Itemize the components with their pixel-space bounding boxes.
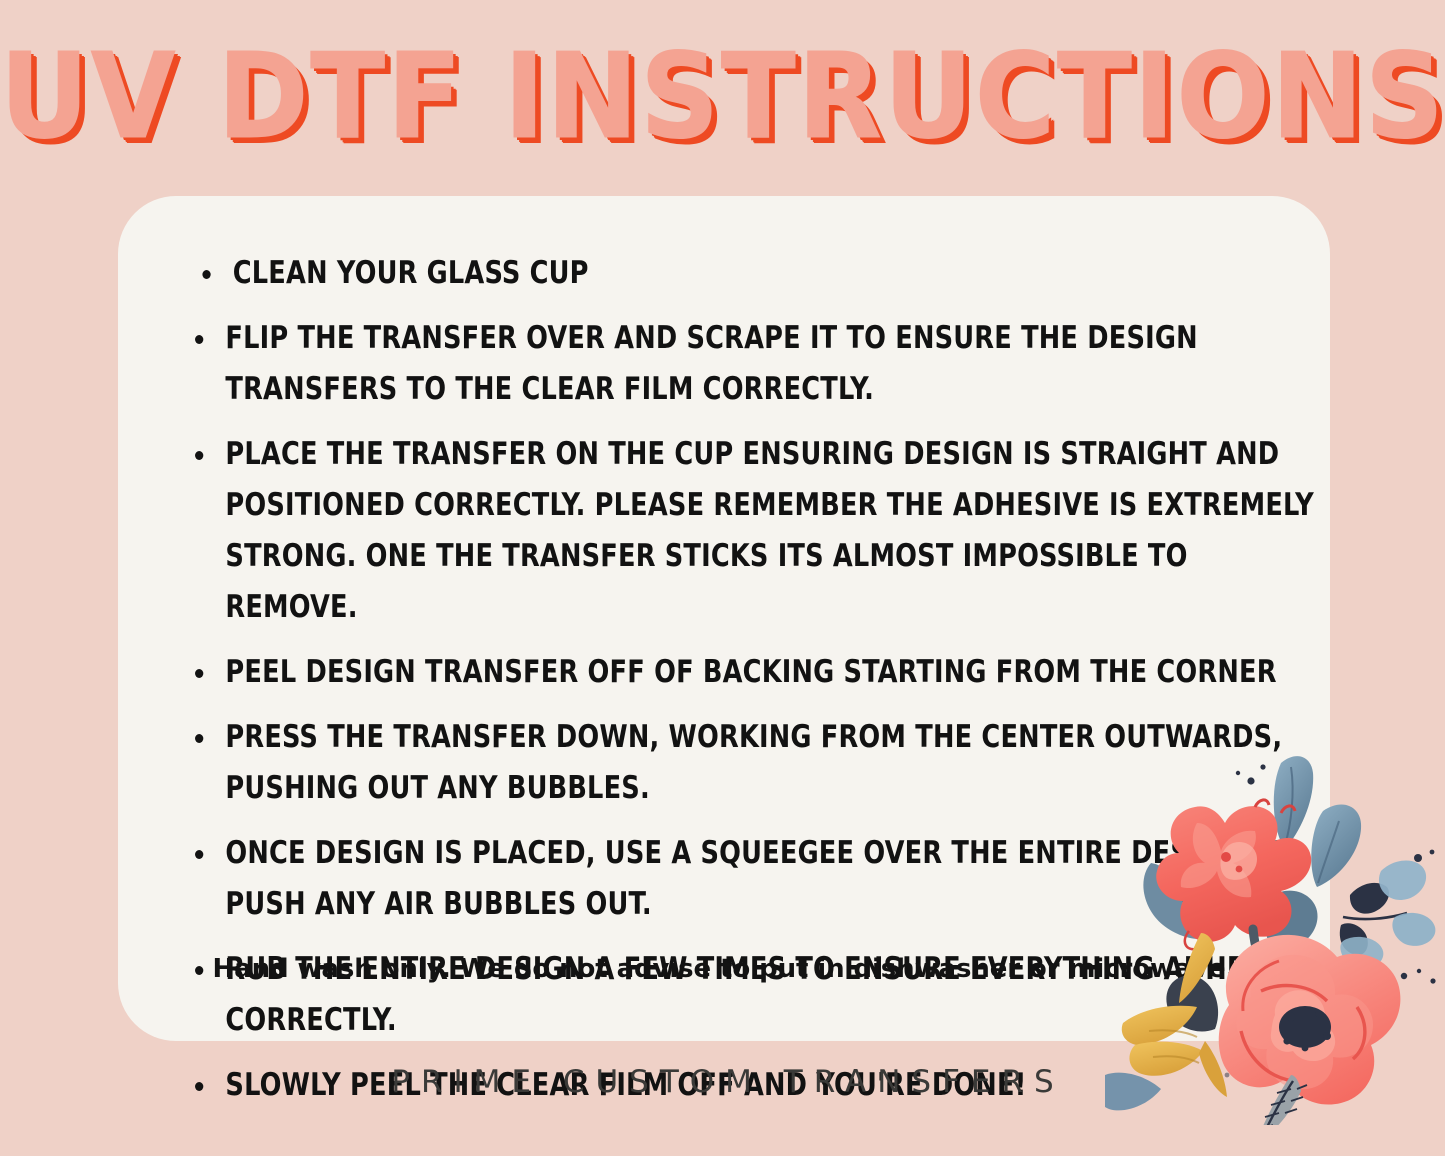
page-title-container: UV DTF INSTRUCTIONS bbox=[0, 36, 1445, 166]
instruction-card-page: UV DTF INSTRUCTIONS Clean your glass cup… bbox=[0, 0, 1445, 1156]
list-item: Press the transfer down, working from th… bbox=[184, 712, 1328, 814]
brand-footer: PRIME CUSTOM TRANSFERS bbox=[0, 1064, 1445, 1100]
list-item: Place the transfer on the cup ensuring d… bbox=[184, 429, 1328, 633]
list-item: Flip the transfer over and scrape it to … bbox=[184, 313, 1328, 415]
page-title: UV DTF INSTRUCTIONS bbox=[0, 36, 1445, 156]
instructions-list: Clean your glass cup Flip the transfer o… bbox=[184, 248, 1294, 1125]
list-item: Clean your glass cup bbox=[184, 248, 1336, 299]
eucalyptus-sprig-icon bbox=[1340, 850, 1436, 984]
instructions-card: Clean your glass cup Flip the transfer o… bbox=[118, 196, 1330, 1041]
care-note: Hand wash only. We do not advise to put … bbox=[118, 952, 1330, 986]
list-item: Peel design transfer off of backing star… bbox=[184, 647, 1328, 698]
list-item: Once design is placed, use a squeegee ov… bbox=[184, 828, 1328, 930]
